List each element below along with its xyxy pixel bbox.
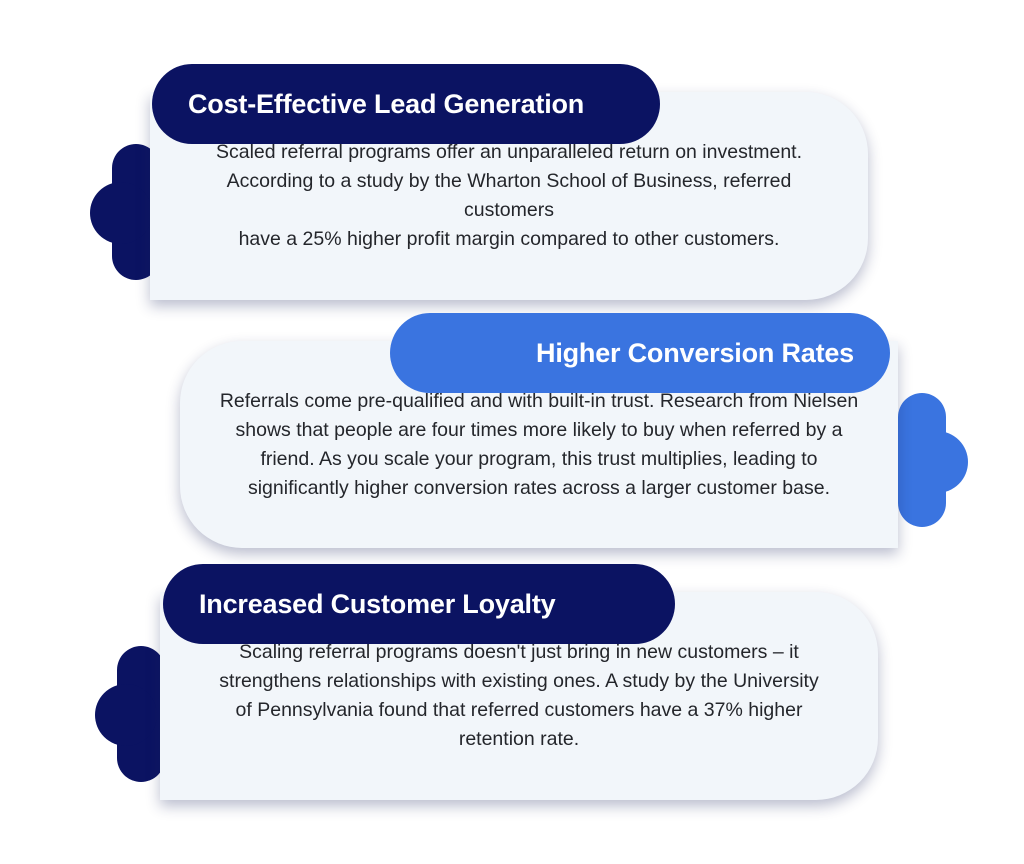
card-title: Cost-Effective Lead Generation (188, 89, 584, 120)
card-header-pill: Increased Customer Loyalty (163, 564, 675, 644)
card-header-pill: Higher Conversion Rates (390, 313, 890, 393)
decorative-blob-right-blue (898, 393, 968, 527)
benefit-card-increased-customer-loyalty: Scaling referral programs doesn't just b… (0, 564, 1024, 800)
card-body-text: Scaled referral programs offer an unpara… (150, 138, 868, 254)
card-body-text: Referrals come pre-qualified and with bu… (186, 387, 892, 503)
card-title: Increased Customer Loyalty (199, 589, 555, 620)
blob-lobe-side (95, 684, 157, 746)
decorative-blob-left-navy (95, 646, 165, 782)
card-header-pill: Cost-Effective Lead Generation (152, 64, 660, 144)
card-body-text: Scaling referral programs doesn't just b… (185, 638, 852, 754)
blob-lobe-side (90, 182, 152, 244)
blob-lobe-side (906, 431, 968, 493)
benefit-card-cost-effective-lead-generation: Scaled referral programs offer an unpara… (0, 64, 1024, 300)
benefit-card-higher-conversion-rates: Referrals come pre-qualified and with bu… (0, 313, 1024, 548)
card-title: Higher Conversion Rates (536, 338, 854, 369)
referral-benefits-infographic: Scaled referral programs offer an unpara… (0, 0, 1024, 864)
